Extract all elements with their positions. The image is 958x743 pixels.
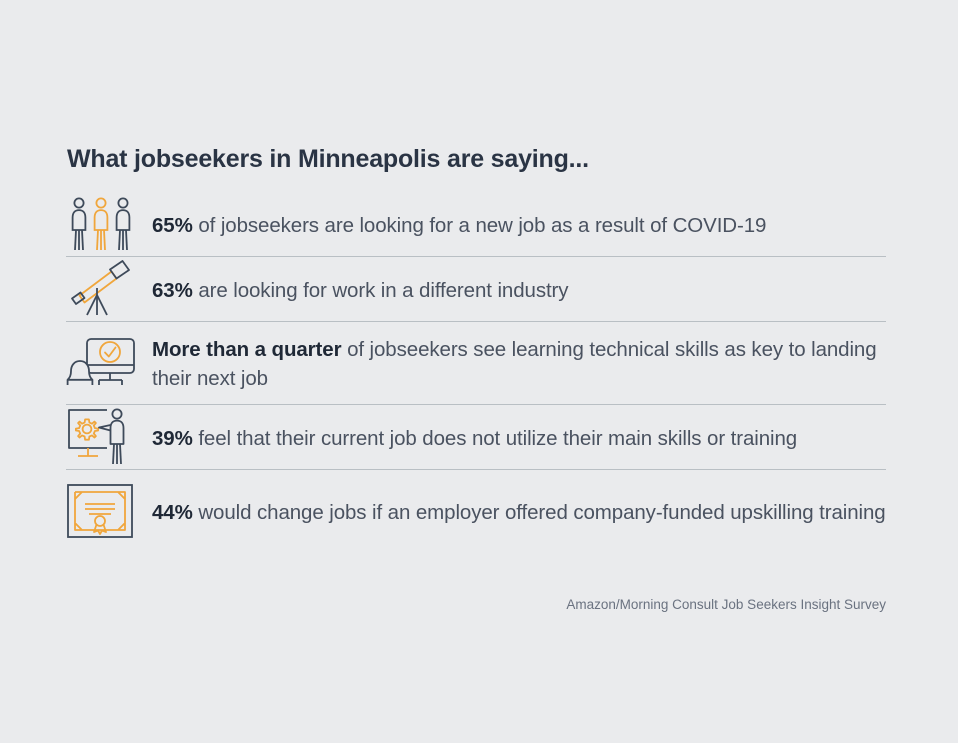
infographic-canvas: What jobseekers in Minneapolis are sayin… [0, 0, 958, 743]
telescope-icon [66, 259, 152, 319]
stat-text: More than a quarter of jobseekers see le… [152, 333, 886, 393]
stat-text: 44% would change jobs if an employer off… [152, 496, 886, 527]
stat-text: 63% are looking for work in a different … [152, 274, 886, 305]
stat-text: 65% of jobseekers are looking for a new … [152, 209, 886, 240]
stat-value: 65% [152, 214, 193, 237]
stat-description: would change jobs if an employer offered… [193, 501, 886, 524]
stat-value: 39% [152, 427, 193, 450]
list-item: 65% of jobseekers are looking for a new … [66, 192, 886, 256]
stat-list: 65% of jobseekers are looking for a new … [66, 192, 886, 552]
stat-description: feel that their current job does not uti… [193, 427, 797, 450]
stat-value: More than a quarter [152, 338, 341, 361]
three-people-icon [66, 194, 152, 254]
monitor-check-person-icon [66, 333, 152, 393]
list-item: 39% feel that their current job does not… [66, 405, 886, 469]
list-item: More than a quarter of jobseekers see le… [66, 322, 886, 404]
certificate-icon [66, 483, 152, 539]
source-attribution: Amazon/Morning Consult Job Seekers Insig… [566, 597, 886, 612]
stat-value: 44% [152, 501, 193, 524]
list-item: 44% would change jobs if an employer off… [66, 470, 886, 552]
stat-text: 39% feel that their current job does not… [152, 422, 886, 453]
list-item: 63% are looking for work in a different … [66, 257, 886, 321]
stat-value: 63% [152, 279, 193, 302]
whiteboard-gear-presenter-icon [66, 406, 152, 468]
stat-description: of jobseekers are looking for a new job … [193, 214, 767, 237]
page-title: What jobseekers in Minneapolis are sayin… [67, 145, 589, 174]
stat-description: are looking for work in a different indu… [193, 279, 569, 302]
